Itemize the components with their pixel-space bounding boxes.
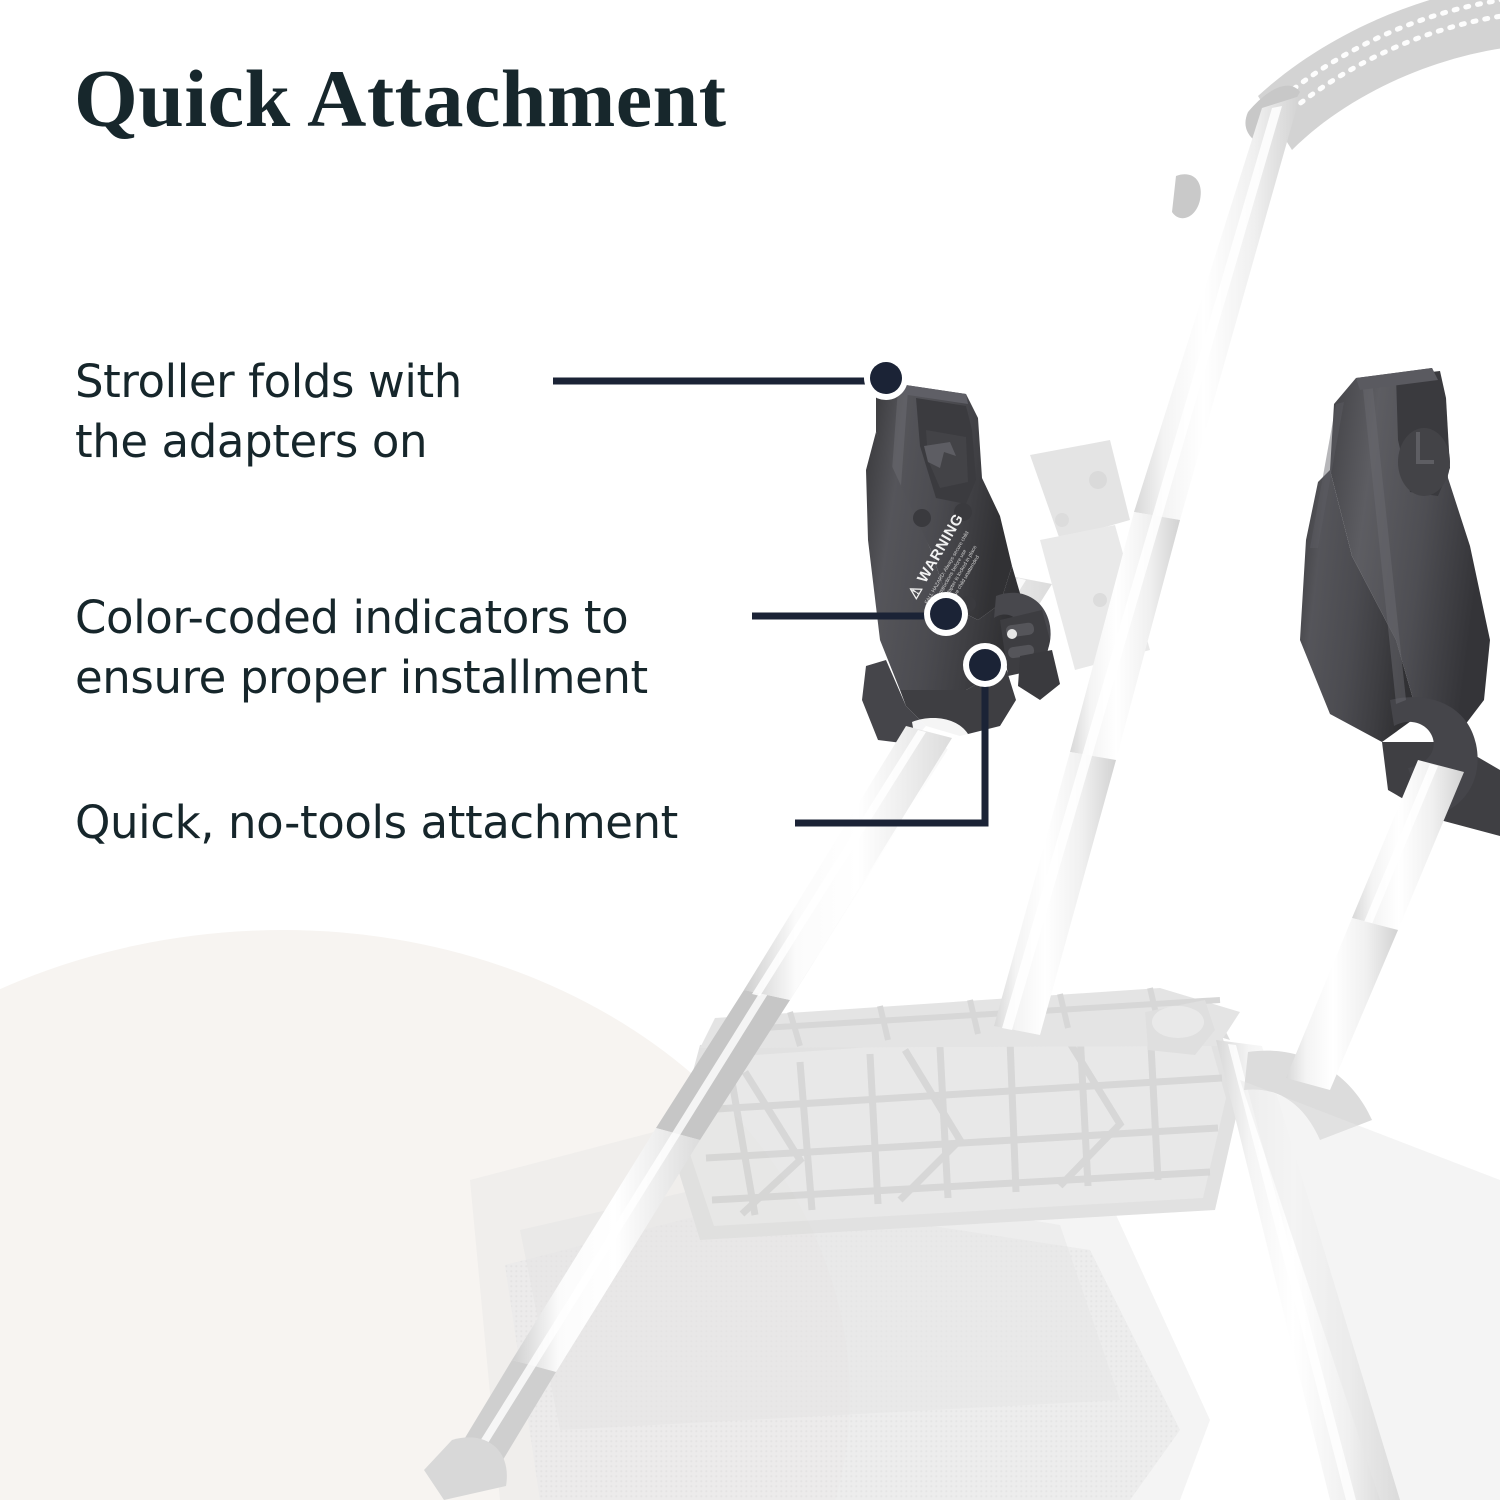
callout-2-line-2: ensure proper installment: [75, 648, 648, 708]
stroller-frame-right-upright: [994, 96, 1300, 1035]
callout-1-line-1: Stroller folds with: [75, 352, 462, 412]
callout-stroller-folds: Stroller folds with the adapters on: [75, 352, 462, 473]
callout-color-coded: Color-coded indicators to ensure proper …: [75, 588, 648, 709]
callout-2-line-1: Color-coded indicators to: [75, 588, 648, 648]
right-adapter-bracket: [1300, 368, 1500, 836]
callout-3-line-1: Quick, no-tools attachment: [75, 793, 678, 853]
frame-tube-overlay-right: [1286, 760, 1464, 1090]
left-adapter-bracket: ⚠ WARNING FALL HAZARD: Always secure chi…: [862, 382, 1060, 752]
stroller-frame-rear-tube: [1216, 1040, 1500, 1500]
page-title: Quick Attachment: [74, 58, 727, 140]
infographic-canvas: ⚠ WARNING FALL HAZARD: Always secure chi…: [0, 0, 1500, 1500]
product-photo: ⚠ WARNING FALL HAZARD: Always secure chi…: [0, 0, 1500, 1500]
callout-1-line-2: the adapters on: [75, 412, 462, 472]
frame-tube-overlay: [744, 726, 952, 1000]
callout-no-tools: Quick, no-tools attachment: [75, 793, 678, 853]
